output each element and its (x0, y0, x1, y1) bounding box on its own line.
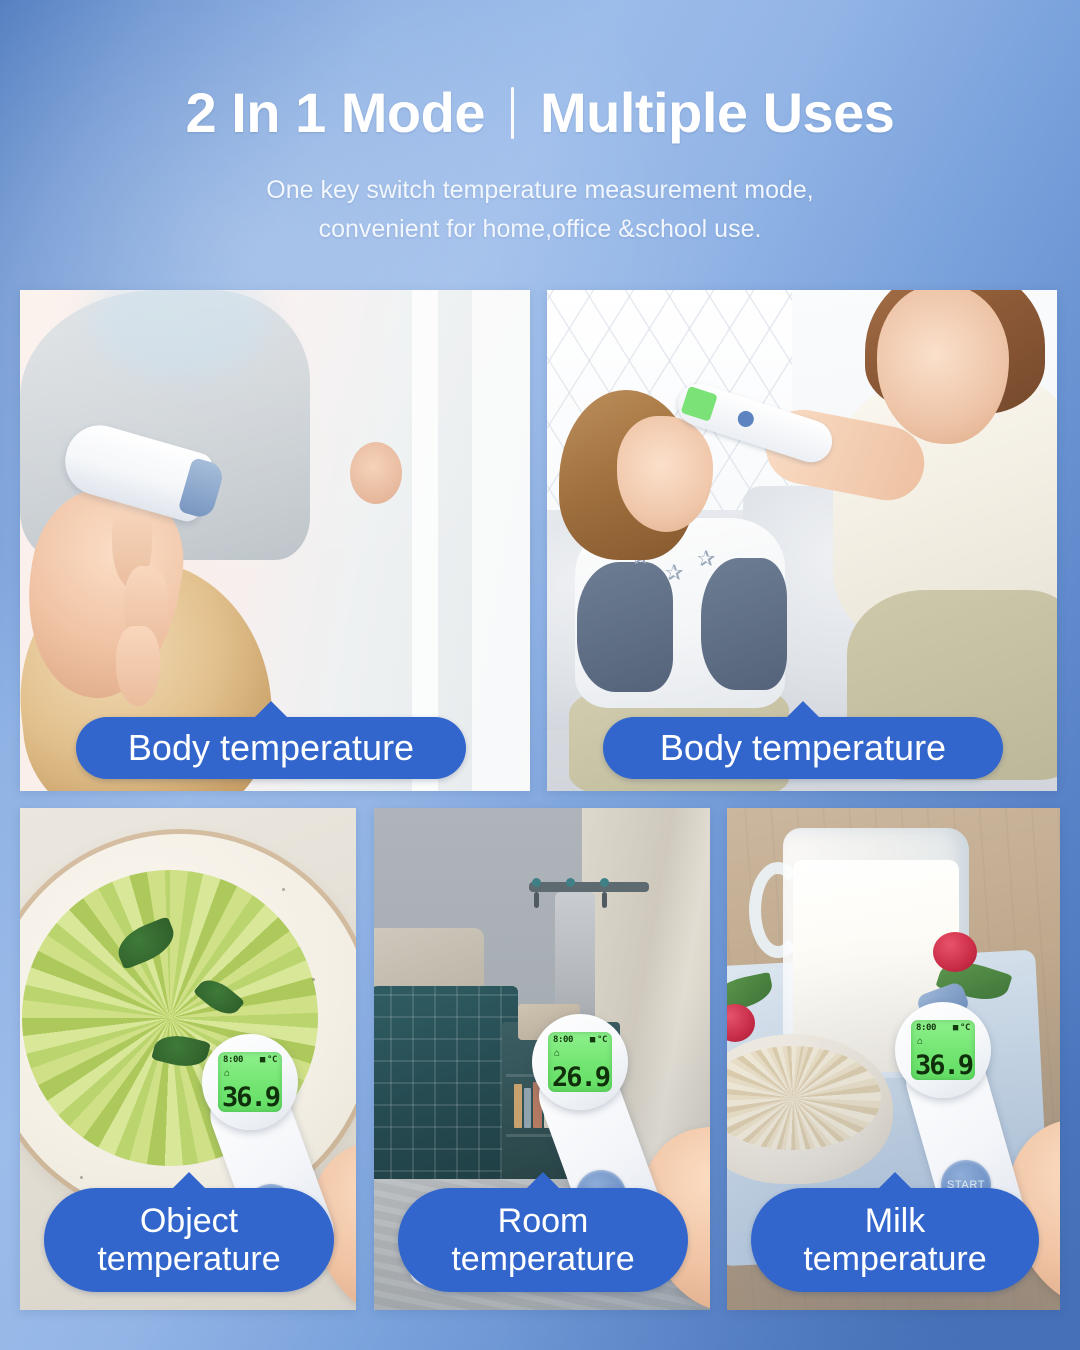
panel-body-temperature-child: ✰ ✰ ✰ Body temperature (547, 290, 1057, 791)
mother-head (877, 290, 1009, 444)
book-2 (524, 1088, 531, 1128)
label-text: Body temperature (660, 728, 946, 768)
home-icon: ⌂ (554, 1048, 560, 1059)
screen-top-row: 8:00 ■ °C (911, 1023, 975, 1033)
screen-reading: 26.9 (548, 1064, 609, 1091)
screen-unit: ■ °C (260, 1055, 277, 1065)
device-screen: 8:00 ■ °C ⌂ 36.9 (218, 1052, 282, 1112)
label-line-2: temperature (451, 1240, 634, 1278)
label-line-1: Object (97, 1202, 280, 1240)
screen-time: 8:00 (916, 1023, 936, 1033)
panel-object-temperature: 8:00 ■ °C ⌂ 36.9 START (20, 808, 356, 1310)
device-screen: 8:00 ■ °C ⌂ 36.9 (911, 1020, 975, 1080)
page-title: 2 In 1 Mode Multiple Uses (0, 84, 1080, 143)
finger-3 (116, 626, 160, 706)
screen-top-row: 8:00 ■ °C (218, 1055, 282, 1065)
screen-unit: ■ °C (953, 1023, 970, 1033)
label-text-block: Milk temperature (803, 1202, 986, 1278)
child-sleeve-left (577, 562, 673, 692)
label-line-2: temperature (97, 1240, 280, 1278)
page-subtitle: One key switch temperature measurement m… (0, 171, 1080, 250)
title-right-segment: Multiple Uses (540, 84, 894, 143)
home-icon: ⌂ (224, 1068, 230, 1079)
coat-hook-1 (534, 892, 539, 908)
panel-body-temperature-baby: Body temperature (20, 290, 530, 791)
label-text: Body temperature (128, 728, 414, 768)
screen-unit-text: °C (267, 1055, 277, 1065)
label-text-block: Object temperature (97, 1202, 280, 1278)
product-feature-poster: 2 In 1 Mode Multiple Uses One key switch… (0, 0, 1080, 1350)
home-icon: ⌂ (917, 1036, 923, 1047)
device-head: 8:00 ■ °C ⌂ 36.9 (202, 1034, 298, 1130)
device-head: 8:00 ■ °C ⌂ 36.9 (895, 1002, 991, 1098)
subtitle-line-2: convenient for home,office &school use. (0, 210, 1080, 250)
label-badge-body-temperature-child: Body temperature (603, 717, 1003, 779)
coat-rail (529, 882, 649, 892)
subtitle-line-1: One key switch temperature measurement m… (0, 171, 1080, 211)
label-badge-object-temperature: Object temperature (44, 1188, 334, 1292)
window-frame-vertical (412, 290, 438, 791)
child-face (617, 416, 713, 532)
label-line-2: temperature (803, 1240, 986, 1278)
title-left-segment: 2 In 1 Mode (186, 84, 485, 143)
window-pane (472, 290, 530, 791)
screen-reading: 36.9 (911, 1052, 972, 1079)
raspberry-1 (933, 932, 977, 972)
thermometer-screen (681, 386, 718, 422)
device-head: 8:00 ■ °C ⌂ 26.9 (532, 1014, 628, 1110)
battery-icon: ■ (953, 1023, 958, 1033)
label-line-1: Room (451, 1202, 634, 1240)
screen-reading: 36.9 (218, 1084, 279, 1111)
coat-hook-knob-2 (566, 878, 575, 887)
panel-room-temperature: 8:00 ■ °C ⌂ 26.9 START (374, 808, 710, 1310)
battery-icon: ■ (260, 1055, 265, 1065)
plate-speck (80, 1176, 83, 1179)
label-text-block: Room temperature (451, 1202, 634, 1278)
screen-unit-text: °C (597, 1035, 607, 1045)
coat-hook-knob-3 (600, 878, 609, 887)
plate-speck (312, 978, 315, 981)
screen-time: 8:00 (553, 1035, 573, 1045)
thermometer-button (736, 409, 756, 429)
label-badge-body-temperature-baby: Body temperature (76, 717, 466, 779)
coat-hook-3 (602, 892, 607, 908)
shirt-star-2: ✰ (665, 562, 683, 584)
screen-time: 8:00 (223, 1055, 243, 1065)
label-badge-milk-temperature: Milk temperature (751, 1188, 1039, 1292)
screen-top-row: 8:00 ■ °C (548, 1035, 612, 1045)
label-badge-room-temperature: Room temperature (398, 1188, 688, 1292)
label-line-1: Milk (803, 1202, 986, 1240)
screen-unit: ■ °C (590, 1035, 607, 1045)
child-sleeve-right (701, 558, 787, 690)
baby-ear (350, 442, 402, 504)
coat-hook-knob-1 (532, 878, 541, 887)
poster-header: 2 In 1 Mode Multiple Uses One key switch… (0, 0, 1080, 250)
plate-speck (282, 888, 285, 891)
book-1 (514, 1084, 522, 1128)
device-screen: 8:00 ■ °C ⌂ 26.9 (548, 1032, 612, 1092)
title-divider (511, 87, 514, 139)
shirt-star-3: ✰ (697, 548, 715, 570)
screen-unit-text: °C (960, 1023, 970, 1033)
battery-icon: ■ (590, 1035, 595, 1045)
panel-milk-temperature: 8:00 ■ °C ⌂ 36.9 START (727, 808, 1060, 1310)
